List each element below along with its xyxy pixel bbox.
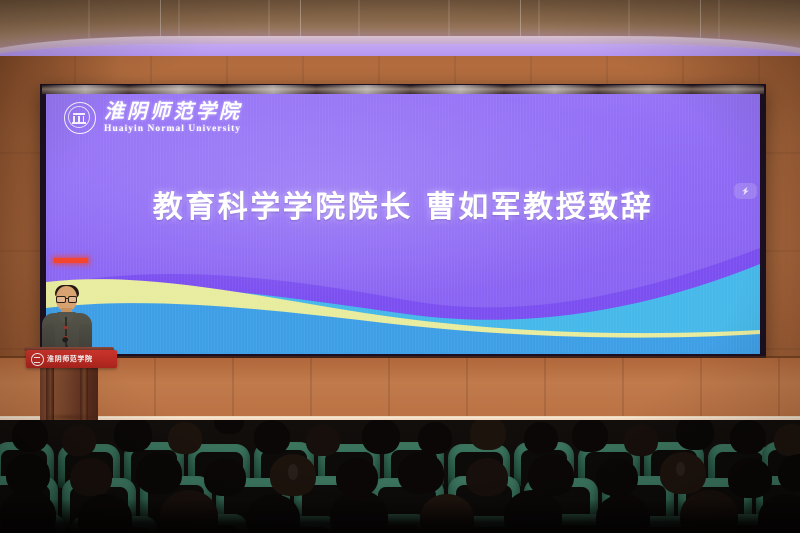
led-screen[interactable]: 淮阴师范学院 Huaiyin Normal University 教育科学学院院… <box>46 94 760 354</box>
audience-member <box>596 458 638 496</box>
podium-banner-text: 淮阴师范学院 <box>47 356 93 363</box>
audience-highlight <box>288 464 298 480</box>
audience-area <box>0 420 800 533</box>
audience-member <box>114 420 152 452</box>
university-name-cn: 淮阴师范学院 <box>104 102 242 122</box>
audience-member <box>62 424 96 456</box>
audience-member <box>524 422 558 454</box>
audience-member <box>6 454 50 494</box>
eyeglasses-icon <box>56 296 77 301</box>
audience-foreground-shadow <box>0 499 800 533</box>
university-seal-icon <box>64 102 96 134</box>
audience-member <box>470 420 506 450</box>
audience-highlight <box>676 462 685 476</box>
audience-member <box>676 420 714 450</box>
audience-member <box>168 422 202 454</box>
university-name-block: 淮阴师范学院 Huaiyin Normal University <box>104 102 242 135</box>
university-seal-icon <box>31 353 44 366</box>
audience-member <box>306 424 340 456</box>
audience-member <box>214 420 244 434</box>
audience-member <box>774 424 800 456</box>
auditorium-scene: 淮阴师范学院 Huaiyin Normal University 教育科学学院院… <box>0 0 800 533</box>
audience-member <box>204 458 246 496</box>
screen-top-reflection <box>42 85 764 94</box>
audience-member <box>624 424 658 456</box>
lightning-badge-icon <box>734 183 757 199</box>
audience-member <box>730 420 766 454</box>
podium: 淮阴师范学院 <box>26 350 112 420</box>
slide-headline: 教育科学学院院长 曹如军教授致辞 <box>46 182 760 226</box>
audience-member <box>466 458 508 496</box>
stage-wall-seams <box>0 358 800 420</box>
audience-member <box>728 458 772 498</box>
audience-member <box>136 452 182 494</box>
audience-member <box>572 420 608 452</box>
podium-banner: 淮阴师范学院 <box>26 350 117 368</box>
screen-wave-graphic <box>46 234 760 354</box>
audience-member <box>398 452 444 494</box>
audience-member <box>254 420 290 454</box>
audience-member <box>12 420 48 452</box>
university-brand-lockup: 淮阴师范学院 Huaiyin Normal University <box>64 102 242 135</box>
audience-member <box>70 458 112 496</box>
audience-member <box>418 422 452 454</box>
university-name-en: Huaiyin Normal University <box>104 125 242 135</box>
speaker-badge <box>64 326 68 329</box>
audience-member <box>362 420 400 454</box>
red-pixel-artifact <box>54 258 88 263</box>
